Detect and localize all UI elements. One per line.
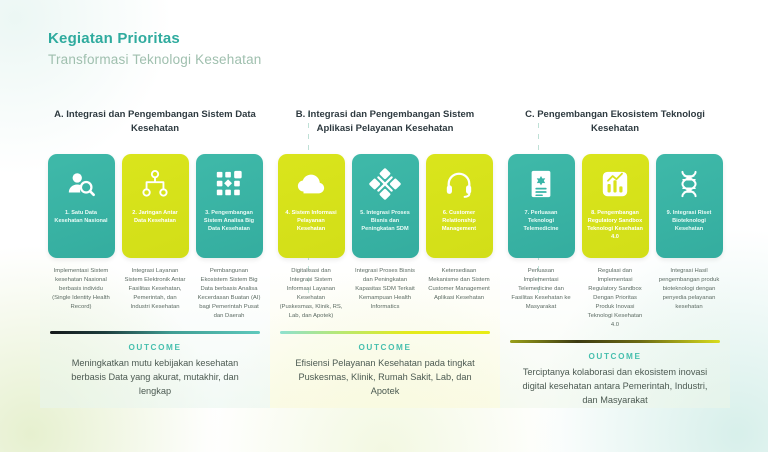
column-c: C. Pengembangan Ekosistem Teknologi Kese… [500, 108, 730, 408]
dna-biotech-icon [674, 158, 704, 210]
card-7[interactable]: 7. Perluasan Teknologi Telemedicine [508, 154, 575, 258]
column-b: B. Integrasi dan Pengembangan Sistem Apl… [270, 108, 500, 408]
card-8-description: Regulasi dan Implementasi Regulatory San… [582, 267, 649, 330]
card-7-label: 7. Perluasan Teknologi Telemedicine [508, 210, 575, 234]
column-c-cards: 7. Perluasan Teknologi Telemedicine 8. P… [504, 154, 726, 258]
card-3[interactable]: 3. Pengembangan Sistem Analisa Big Data … [196, 154, 263, 258]
column-b-cards: 4. Sistem Informasi Pelayanan Kesehatan … [274, 154, 496, 258]
outcome-label-c: OUTCOME [514, 352, 716, 361]
page-title: Kegiatan Prioritas [48, 30, 262, 47]
infographic-page: Kegiatan Prioritas Transformasi Teknolog… [0, 0, 768, 452]
card-4-description: Digitalisasi dan Integrasi Sistem Inform… [278, 267, 345, 321]
column-c-heading: C. Pengembangan Ekosistem Teknologi Kese… [504, 108, 726, 148]
card-2-description: Integrasi Layanan Sistem Elektronik Anta… [122, 267, 189, 321]
page-subtitle: Transformasi Teknologi Kesehatan [48, 52, 262, 67]
cloud-icon [295, 158, 327, 210]
card-9-description: Integrasi Hasil pengembangan produk biot… [656, 267, 723, 330]
card-3-label: 3. Pengembangan Sistem Analisa Big Data … [196, 210, 263, 234]
card-2-label: 2. Jaringan Antar Data Kesehatan [122, 210, 189, 226]
column-a-cards: 1. Satu Data Kesehatan Nasional 2. Jarin… [44, 154, 266, 258]
outcome-text-c: Terciptanya kolaborasi dan ekosistem ino… [514, 365, 716, 408]
card-9[interactable]: 9. Integrasi Riset Bioteknologi Kesehata… [656, 154, 723, 258]
column-a: A. Integrasi dan Pengembangan Sistem Dat… [40, 108, 270, 408]
header: Kegiatan Prioritas Transformasi Teknolog… [48, 30, 262, 67]
column-b-descriptions: Digitalisasi dan Integrasi Sistem Inform… [274, 267, 496, 321]
regulation-chart-icon [600, 158, 630, 210]
card-6[interactable]: 6. Customer Relationship Management [426, 154, 493, 258]
card-3-description: Pembangunan Ekosistem Sistem Big Data be… [196, 267, 263, 321]
card-8[interactable]: 8. Pengembangan Regulatory Sandbox Tekno… [582, 154, 649, 258]
column-b-outcome: OUTCOME Efisiensi Pelayanan Kesehatan pa… [274, 334, 496, 399]
column-a-descriptions: Implementasi Sistem kesehatan Nasional b… [44, 267, 266, 321]
document-health-icon [527, 158, 555, 210]
card-1-description: Implementasi Sistem kesehatan Nasional b… [48, 267, 115, 321]
card-4[interactable]: 4. Sistem Informasi Pelayanan Kesehatan [278, 154, 345, 258]
card-1-label: 1. Satu Data Kesehatan Nasional [48, 210, 115, 226]
card-5-description: Integrasi Proses Bisnis dan Peningkatan … [352, 267, 419, 321]
card-6-description: Ketersediaan Mekanisme dan Sistem Custom… [426, 267, 493, 321]
card-4-label: 4. Sistem Informasi Pelayanan Kesehatan [278, 210, 345, 234]
card-6-label: 6. Customer Relationship Management [426, 210, 493, 234]
user-search-icon [66, 158, 96, 210]
column-c-descriptions: Perluasan Implementasi Telemedicine dan … [504, 267, 726, 330]
column-a-outcome: OUTCOME Meningkatkan mutu kebijakan kese… [44, 334, 266, 399]
card-1[interactable]: 1. Satu Data Kesehatan Nasional [48, 154, 115, 258]
column-c-outcome: OUTCOME Terciptanya kolaborasi dan ekosi… [504, 343, 726, 408]
headset-support-icon [444, 158, 474, 210]
card-9-label: 9. Integrasi Riset Bioteknologi Kesehata… [656, 210, 723, 234]
column-a-heading: A. Integrasi dan Pengembangan Sistem Dat… [44, 108, 266, 148]
grid-blocks-icon [214, 158, 244, 210]
outcome-text-b: Efisiensi Pelayanan Kesehatan pada tingk… [284, 356, 486, 399]
outcome-label-a: OUTCOME [54, 343, 256, 352]
diamond-cluster-icon [369, 158, 401, 210]
card-5-label: 5. Integrasi Proses Bisnis dan Peningkat… [352, 210, 419, 234]
card-7-description: Perluasan Implementasi Telemedicine dan … [508, 267, 575, 330]
card-2[interactable]: 2. Jaringan Antar Data Kesehatan [122, 154, 189, 258]
columns-container: A. Integrasi dan Pengembangan Sistem Dat… [40, 108, 730, 408]
column-b-heading: B. Integrasi dan Pengembangan Sistem Apl… [274, 108, 496, 148]
outcome-text-a: Meningkatkan mutu kebijakan kesehatan be… [54, 356, 256, 399]
card-5[interactable]: 5. Integrasi Proses Bisnis dan Peningkat… [352, 154, 419, 258]
share-nodes-icon [140, 158, 170, 210]
card-8-label: 8. Pengembangan Regulatory Sandbox Tekno… [582, 210, 649, 242]
outcome-label-b: OUTCOME [284, 343, 486, 352]
